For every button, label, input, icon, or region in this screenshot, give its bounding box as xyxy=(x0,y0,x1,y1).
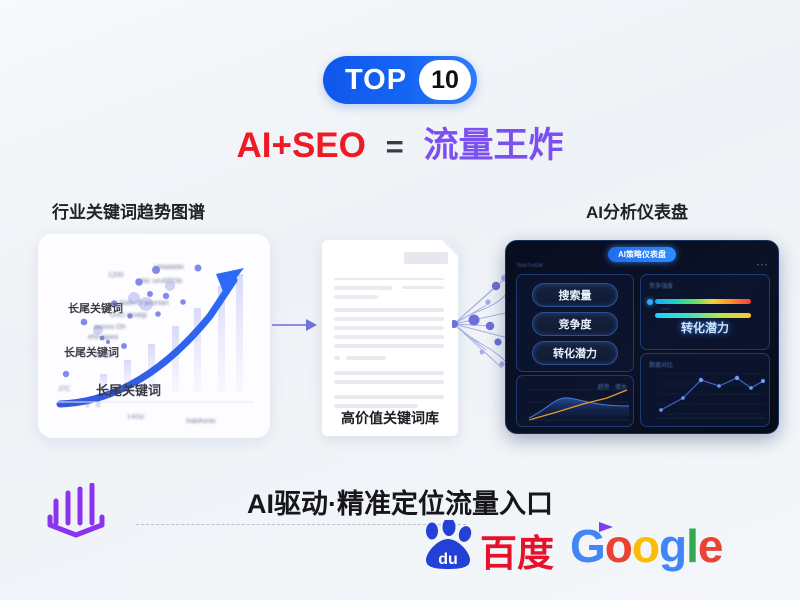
metric-pill-search-volume[interactable]: 搜索量 xyxy=(532,283,618,307)
doc-caption: 高价值关键词库 xyxy=(322,408,458,428)
footer-dashed-line xyxy=(136,524,466,525)
metric-panel: 搜索量 竞争度 转化潜力 xyxy=(516,274,634,372)
svg-text:du: du xyxy=(438,551,458,568)
google-logo: Google xyxy=(570,523,722,569)
ai-dashboard: AI策略仪表盘 TbdsTrnGM ••• 搜索量 竞争度 转化潜力 竞争强度 … xyxy=(505,240,779,434)
baidu-paw-icon: du xyxy=(420,520,476,572)
top-badge-wrap: TOP 10 xyxy=(0,56,800,104)
headline-operator: = xyxy=(386,129,404,164)
metric-pill-competition[interactable]: 竞争度 xyxy=(532,312,618,336)
intensity-gradient-bar-1 xyxy=(655,299,751,304)
comparison-panel-title: 数据对比 xyxy=(649,360,673,369)
slide-canvas: TOP 10 AI+SEO = 流量王炸 行业关键词趋势图谱 AI分析仪表盘 xyxy=(0,0,800,600)
top-badge: TOP 10 xyxy=(323,56,477,104)
footer-slogan: AI驱动·精准定位流量入口 xyxy=(0,482,800,521)
intensity-tiny-label: •••••• xyxy=(661,306,669,311)
dashboard-title-pill: AI策略仪表盘 xyxy=(608,247,676,262)
google-letter-l: l xyxy=(686,520,698,572)
top-badge-label: TOP xyxy=(345,66,419,95)
fuzzy-text-7: Alciuh xyxy=(94,352,113,359)
google-letter-g2: g xyxy=(659,520,686,572)
trend-area-panel: 趋势 · 增长 xyxy=(516,375,634,427)
chart-axis-ticks: -90 xyxy=(76,402,107,409)
conversion-potential-overlay: 转化潜力 xyxy=(641,319,769,336)
intensity-panel-title: 竞争强度 xyxy=(649,281,673,290)
top-badge-number: 10 xyxy=(419,60,471,100)
trend-area-legend: 趋势 · 增长 xyxy=(598,382,627,391)
fuzzy-text-5: avovio Oh xyxy=(94,324,126,331)
fuzzy-text-1: Veladatiki xyxy=(154,264,184,271)
doc-header-chip xyxy=(404,252,448,264)
fuzzy-text-8: J7C xyxy=(58,386,70,393)
headline-right: 流量王炸 xyxy=(423,126,563,165)
right-section-caption: AI分析仪表盘 xyxy=(586,198,688,223)
search-engine-logos: du 百度 Google xyxy=(420,520,722,572)
keyword-label-3: 长尾关键词 xyxy=(96,380,161,399)
dashboard-menu-icon[interactable]: ••• xyxy=(757,263,769,269)
bar-chart-icon xyxy=(44,483,108,546)
headline-left: AI+SEO xyxy=(237,126,366,165)
intensity-marker-icon xyxy=(647,299,653,305)
chart-legend: trabAsnio xyxy=(186,418,216,425)
google-letter-o2: o xyxy=(632,520,659,572)
flow-arrow-icon xyxy=(272,318,318,337)
intensity-panel: 竞争强度 •••••• 转化潜力 xyxy=(640,274,770,350)
fuzzy-text-6: eNt-agwa xyxy=(88,334,118,341)
chart-xlabel: t-Khz xyxy=(128,414,144,421)
keyword-library-document: 高价值关键词库 xyxy=(322,240,458,436)
dashboard-subtitle: TbdsTrnGM xyxy=(516,263,542,269)
keyword-trend-card: 长尾关键词 长尾关键词 长尾关键词 Veladatiki Nc sinAPtOb… xyxy=(38,234,270,438)
pointer-arrow-icon xyxy=(596,520,616,539)
intensity-gradient-bar-2 xyxy=(655,313,751,318)
comparison-panel: 数据对比 xyxy=(640,353,770,427)
baidu-logo-text: 百度 xyxy=(480,535,554,572)
fuzzy-text-3: v Alalu.O anonlan xyxy=(114,300,169,307)
baidu-logo: du 百度 xyxy=(420,520,554,572)
metric-pill-conversion[interactable]: 转化潜力 xyxy=(532,341,618,365)
fuzzy-text-4: OvO atoalgi xyxy=(110,312,147,319)
google-letter-e: e xyxy=(698,520,723,572)
fuzzy-text-2: Nc sinAPtOb xyxy=(142,278,182,285)
left-section-caption: 行业关键词趋势图谱 xyxy=(52,198,205,223)
fuzzy-text-9: 1200 xyxy=(108,272,124,279)
page-title: AI+SEO = 流量王炸 xyxy=(0,125,800,167)
